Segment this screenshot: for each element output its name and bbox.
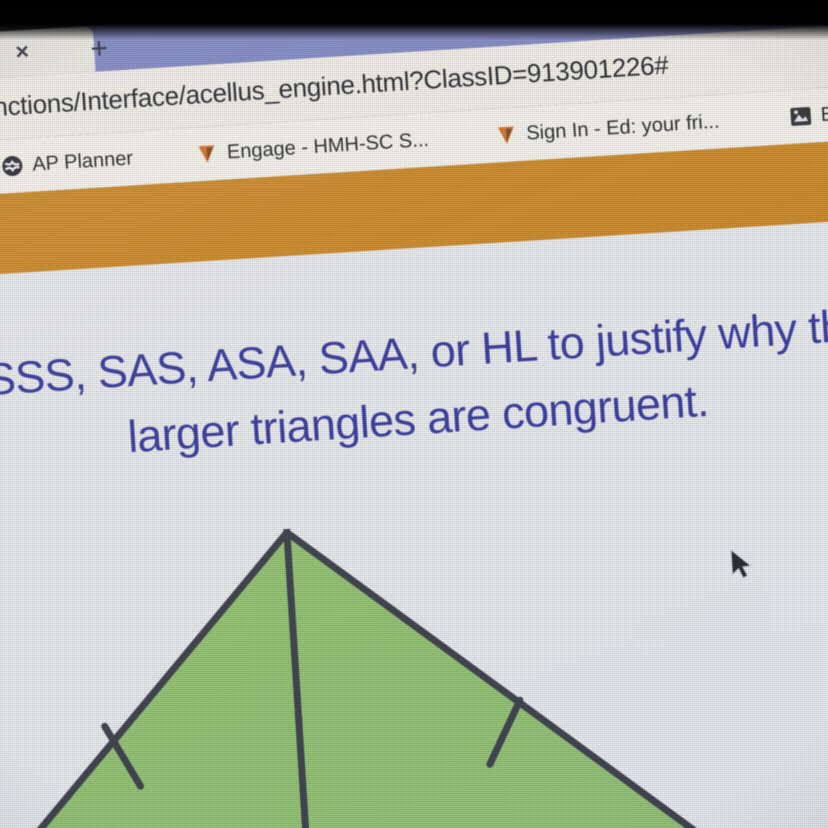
bookmark-label: Sign In - Ed: your fri... <box>526 110 720 145</box>
image-icon <box>789 105 812 128</box>
triangle-shape <box>0 503 776 828</box>
monitor-screen: × + Functions/Interface/acellus_engine.h… <box>0 0 828 828</box>
new-tab-button[interactable]: + <box>83 34 115 66</box>
bookmark-label: Bell Schedule <box>820 96 828 127</box>
shield-icon <box>195 142 218 165</box>
triangle-figure <box>0 479 828 828</box>
globe-icon <box>1 154 24 177</box>
shield-icon <box>495 123 518 146</box>
screen-photo: × + Functions/Interface/acellus_engine.h… <box>0 0 828 828</box>
tab-close-icon[interactable]: × <box>9 38 34 63</box>
mouse-cursor-arrow-icon <box>729 547 757 583</box>
bookmark-label: AP Planner <box>32 147 134 176</box>
bookmark-label: Engage - HMH-SC S... <box>226 128 429 164</box>
